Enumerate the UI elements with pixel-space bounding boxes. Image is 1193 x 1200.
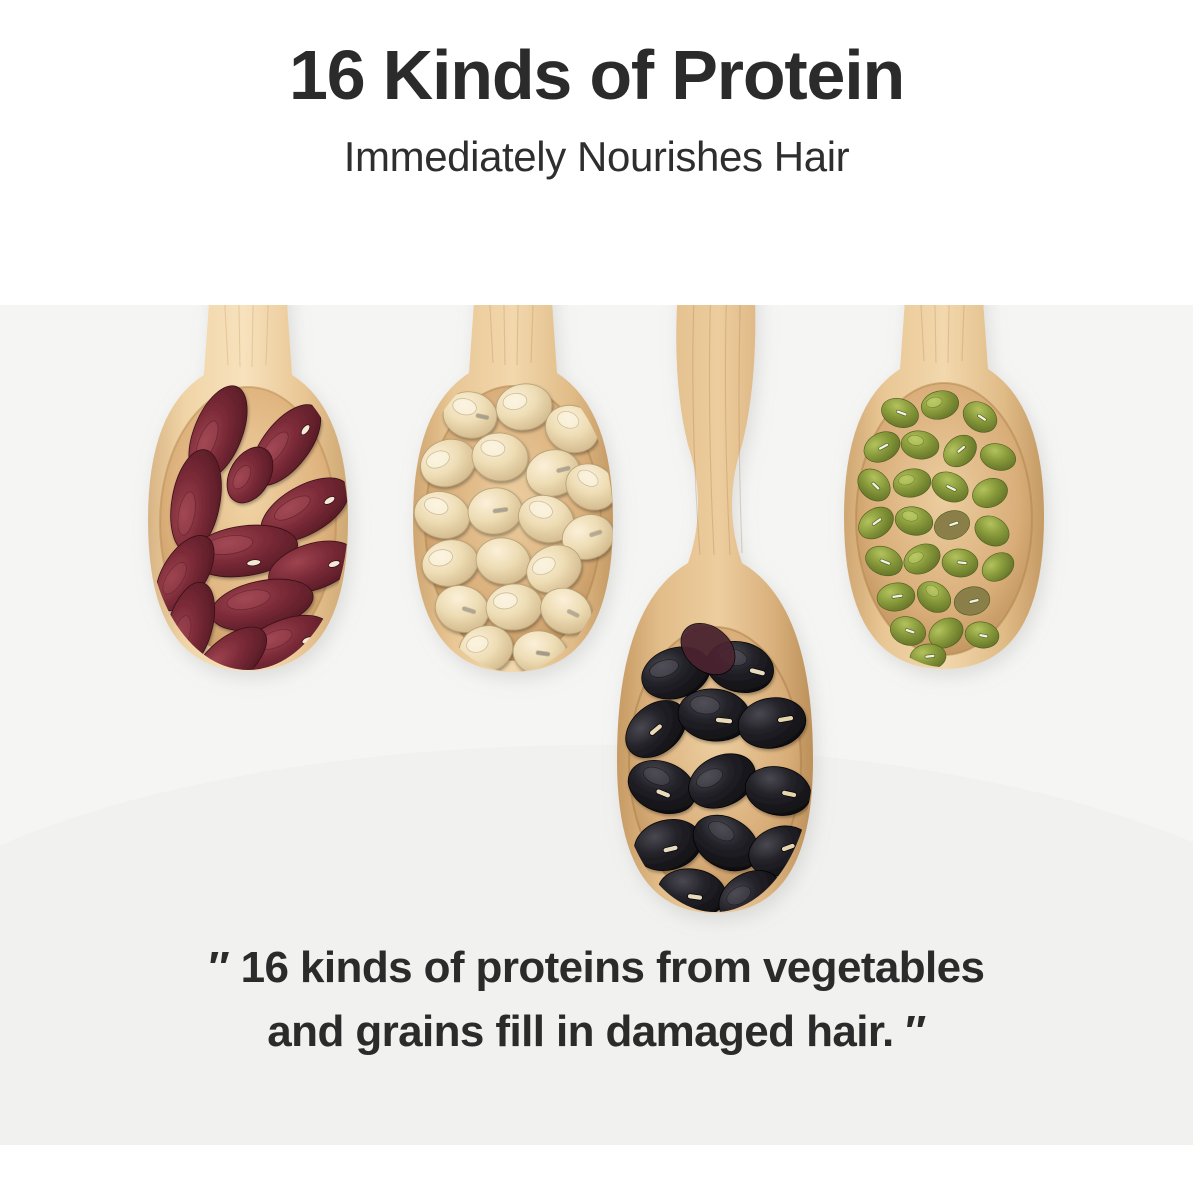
page-subtitle: Immediately Nourishes Hair [344, 132, 849, 182]
product-feature-card: 16 Kinds of Protein Immediately Nourishe… [0, 0, 1193, 1200]
beans-illustration [0, 305, 1193, 1145]
page-title: 16 Kinds of Protein [289, 38, 904, 114]
footer-strip [0, 1145, 1193, 1200]
beans-photo [0, 305, 1193, 1145]
header-section: 16 Kinds of Protein Immediately Nourishe… [0, 0, 1193, 305]
